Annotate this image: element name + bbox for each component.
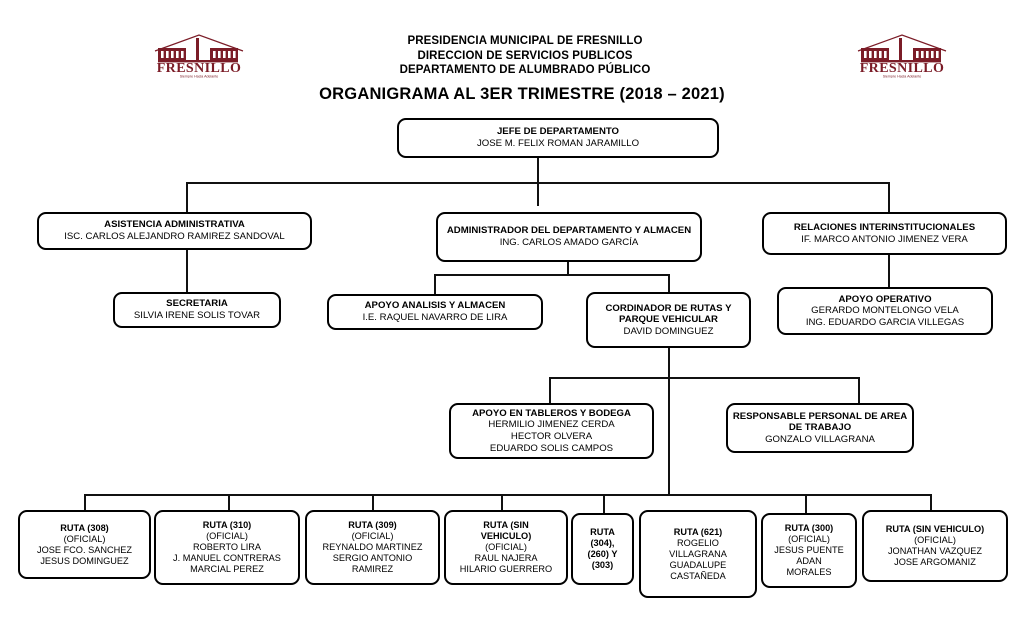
node-subtitle: (OFICIAL) JESUS PUENTE ADAN MORALES (774, 534, 843, 578)
node-subtitle: ISC. CARLOS ALEJANDRO RAMIREZ SANDOVAL (64, 231, 285, 243)
connector-tier2-center-drop (537, 182, 539, 206)
connector-admin-bus (434, 274, 669, 276)
connector-relaciones-apoyo (888, 255, 890, 287)
svg-text:Siempre Hacia Adelante: Siempre Hacia Adelante (180, 75, 219, 79)
node-title: RUTA (SIN VEHICULO) (481, 520, 532, 542)
node-title: ASISTENCIA ADMINISTRATIVA (104, 219, 245, 231)
node-title: RUTA (SIN VEHICULO) (886, 524, 985, 535)
node-apoyo-operativo[interactable]: APOYO OPERATIVO GERARDO MONTELONGO VELA … (777, 287, 993, 335)
node-subtitle: (OFICIAL) REYNALDO MARTINEZ SERGIO ANTON… (323, 531, 423, 575)
node-subtitle: ROGELIO VILLAGRANA GUADALUPE CASTAÑEDA (669, 538, 727, 582)
node-title: RELACIONES INTERINSTITUCIONALES (794, 222, 975, 234)
node-ruta-309[interactable]: RUTA (309) (OFICIAL) REYNALDO MARTINEZ S… (305, 510, 440, 585)
node-secretaria[interactable]: SECRETARIA SILVIA IRENE SOLIS TOVAR (113, 292, 281, 328)
connector-tier2-left-drop (186, 182, 188, 212)
node-title: RUTA (300) (785, 523, 834, 534)
node-title: JEFE DE DEPARTAMENTO (497, 126, 619, 138)
connector-admin-down (567, 262, 569, 274)
node-subtitle: GONZALO VILLAGRANA (765, 434, 875, 446)
node-responsable-personal-area[interactable]: RESPONSABLE PERSONAL DE AREA DE TRABAJO … (726, 403, 914, 453)
node-subtitle: IF. MARCO ANTONIO JIMENEZ VERA (801, 234, 968, 246)
node-subtitle: JOSE M. FELIX ROMAN JARAMILLO (477, 138, 639, 150)
connector-cordinador-down (668, 348, 670, 377)
header-line-3: DEPARTAMENTO DE ALUMBRADO PÚBLICO (300, 63, 750, 78)
node-title: RESPONSABLE PERSONAL DE AREA DE TRABAJO (732, 411, 908, 434)
connector-cordinador-right-drop (858, 377, 860, 403)
node-subtitle: (OFICIAL) JONATHAN VAZQUEZ JOSE ARGOMANI… (888, 535, 982, 568)
node-title: ADMINISTRADOR DEL DEPARTAMENTO Y ALMACEN (447, 225, 691, 237)
connector-route-drop-4 (501, 494, 503, 510)
connector-route-drop-8 (930, 494, 932, 510)
connector-route-drop-7 (805, 494, 807, 513)
node-relaciones-interinstitucionales[interactable]: RELACIONES INTERINSTITUCIONALES IF. MARC… (762, 212, 1007, 255)
node-subtitle: ING. CARLOS AMADO GARCÍA (500, 237, 639, 249)
node-ruta-sin-vehiculo-2[interactable]: RUTA (SIN VEHICULO) (OFICIAL) JONATHAN V… (862, 510, 1008, 582)
connector-route-drop-1 (84, 494, 86, 510)
connector-admin-left-drop (434, 274, 436, 294)
header-line-1: PRESIDENCIA MUNICIPAL DE FRESNILLO (300, 34, 750, 49)
chart-subtitle: ORGANIGRAMA AL 3ER TRIMESTRE (2018 – 202… (262, 85, 782, 104)
connector-tier2-right-drop (888, 182, 890, 212)
svg-text:Siempre Hacia Adelante: Siempre Hacia Adelante (883, 75, 922, 79)
node-ruta-sin-vehiculo-1[interactable]: RUTA (SIN VEHICULO) (OFICIAL) RAUL NAJER… (444, 510, 568, 585)
node-title: RUTA (304), (260) Y (303) (588, 527, 618, 571)
node-cordinador-de-rutas[interactable]: CORDINADOR DE RUTAS Y PARQUE VEHICULAR D… (586, 292, 751, 348)
node-subtitle: (OFICIAL) ROBERTO LIRA J. MANUEL CONTRER… (173, 531, 281, 575)
node-title: APOYO OPERATIVO (838, 294, 931, 306)
node-subtitle: (OFICIAL) JOSE FCO. SANCHEZ JESUS DOMING… (37, 534, 132, 567)
node-title: RUTA (309) (348, 520, 397, 531)
node-ruta-300[interactable]: RUTA (300) (OFICIAL) JESUS PUENTE ADAN M… (761, 513, 857, 588)
node-subtitle: GERARDO MONTELONGO VELA ING. EDUARDO GAR… (806, 305, 964, 328)
node-subtitle: DAVID DOMINGUEZ (624, 326, 714, 338)
connector-cordinador-bus (549, 377, 859, 379)
node-title: RUTA (308) (60, 523, 109, 534)
header-line-2: DIRECCION DE SERVICIOS PUBLICOS (300, 49, 750, 64)
node-title: RUTA (310) (203, 520, 252, 531)
node-administrador-del-departamento[interactable]: ADMINISTRADOR DEL DEPARTAMENTO Y ALMACEN… (436, 212, 702, 262)
node-title: CORDINADOR DE RUTAS Y PARQUE VEHICULAR (592, 303, 745, 326)
connector-jefe-down (537, 158, 539, 182)
node-apoyo-en-tableros-y-bodega[interactable]: APOYO EN TABLEROS Y BODEGA HERMILIO JIME… (449, 403, 654, 459)
connector-admin-right-drop (668, 274, 670, 292)
node-ruta-308[interactable]: RUTA (308) (OFICIAL) JOSE FCO. SANCHEZ J… (18, 510, 151, 579)
connector-routes-bus (84, 494, 930, 496)
node-subtitle: HERMILIO JIMENEZ CERDA HECTOR OLVERA EDU… (488, 419, 614, 454)
node-jefe-de-departamento[interactable]: JEFE DE DEPARTAMENTO JOSE M. FELIX ROMAN… (397, 118, 719, 158)
connector-route-drop-3 (372, 494, 374, 510)
node-ruta-621[interactable]: RUTA (621) ROGELIO VILLAGRANA GUADALUPE … (639, 510, 757, 598)
connector-route-drop-2 (228, 494, 230, 510)
node-title: APOYO ANALISIS Y ALMACEN (365, 300, 506, 312)
node-subtitle: (OFICIAL) RAUL NAJERA HILARIO GUERRERO (460, 542, 552, 575)
node-title: SECRETARIA (166, 298, 228, 310)
organigrama-page: FRESNILLO Siempre Hacia Adelante (0, 0, 1024, 622)
connector-asistencia-secretaria (186, 250, 188, 292)
node-asistencia-administrativa[interactable]: ASISTENCIA ADMINISTRATIVA ISC. CARLOS AL… (37, 212, 312, 250)
node-subtitle: I.E. RAQUEL NAVARRO DE LIRA (363, 312, 508, 324)
node-ruta-304-260-303[interactable]: RUTA (304), (260) Y (303) (571, 513, 634, 585)
node-apoyo-analisis-y-almacen[interactable]: APOYO ANALISIS Y ALMACEN I.E. RAQUEL NAV… (327, 294, 543, 330)
fresnillo-logo-right: FRESNILLO Siempre Hacia Adelante (843, 26, 961, 78)
fresnillo-logo-left: FRESNILLO Siempre Hacia Adelante (140, 26, 258, 78)
connector-routes-stem (668, 377, 670, 494)
node-title: RUTA (621) (674, 527, 723, 538)
connector-route-drop-5 (603, 494, 605, 513)
connector-cordinador-left-drop (549, 377, 551, 403)
header-title-block: PRESIDENCIA MUNICIPAL DE FRESNILLO DIREC… (300, 34, 750, 78)
node-subtitle: SILVIA IRENE SOLIS TOVAR (134, 310, 260, 322)
node-title: APOYO EN TABLEROS Y BODEGA (472, 408, 631, 420)
node-ruta-310[interactable]: RUTA (310) (OFICIAL) ROBERTO LIRA J. MAN… (154, 510, 300, 585)
